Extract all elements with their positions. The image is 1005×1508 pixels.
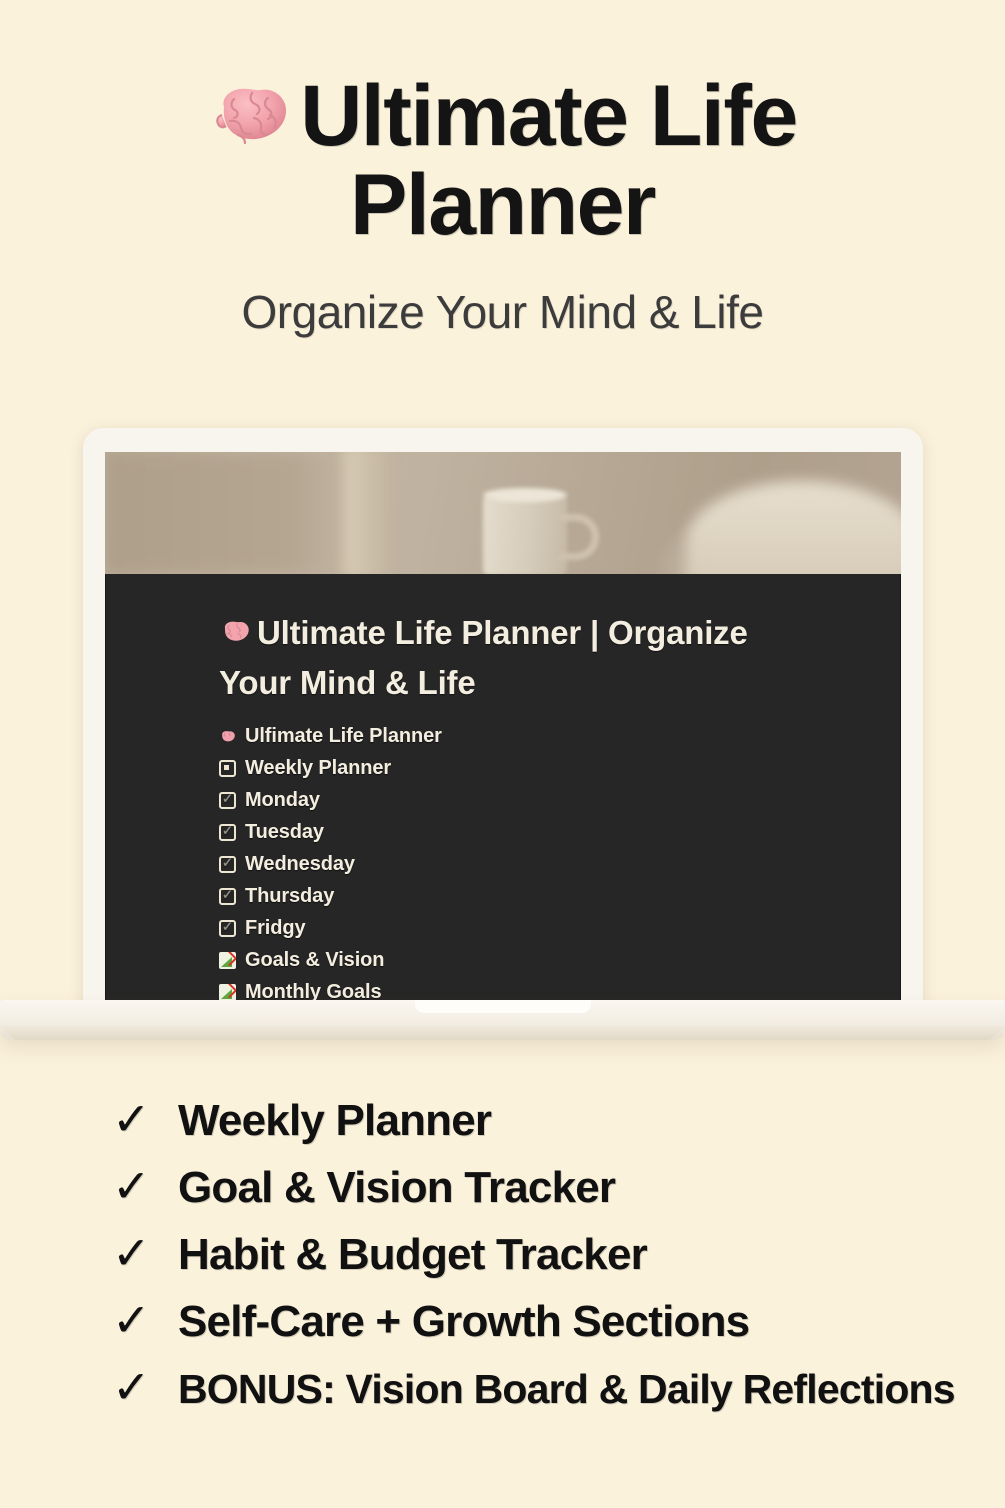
brain-icon: [219, 729, 236, 744]
notion-page-body: Ultimate Life Planner | Organize Your Mi…: [105, 574, 901, 1008]
feature-label: Goal & Vision Tracker: [178, 1166, 615, 1210]
list-item-label: Wednesday: [245, 854, 355, 874]
chart-icon: [219, 984, 236, 1001]
list-item[interactable]: Wednesday: [219, 848, 901, 880]
list-item-label: Fridgy: [245, 918, 306, 938]
list-item[interactable]: Monday: [219, 784, 901, 816]
laptop-screen: Ultimate Life Planner | Organize Your Mi…: [105, 452, 901, 1010]
cover-image: [105, 452, 901, 574]
checkbox-icon[interactable]: [219, 856, 236, 873]
list-item[interactable]: Ulfimate Life Planner: [219, 720, 901, 752]
feature-item: ✓ Habit & Budget Tracker: [112, 1230, 1005, 1297]
feature-label: BONUS: Vision Board & Daily Reflections: [178, 1369, 955, 1410]
page-title: Ultimate Life Planner: [103, 72, 903, 251]
header: Ultimate Life Planner Organize Your Mind…: [0, 0, 1005, 339]
notion-page-list: Ulfimate Life Planner Weekly Planner Mon…: [219, 720, 901, 1008]
checkbox-icon[interactable]: [219, 920, 236, 937]
feature-item: ✓ BONUS: Vision Board & Daily Reflection…: [112, 1364, 1005, 1431]
title-text-2: Planner: [103, 161, 903, 250]
list-item-label: Tuesday: [245, 822, 324, 842]
chart-icon: [219, 952, 236, 969]
laptop-base-lip: [0, 1026, 1005, 1040]
brain-icon: [208, 82, 292, 152]
checkbox-icon[interactable]: [219, 888, 236, 905]
check-icon: ✓: [112, 1096, 156, 1142]
laptop-trackpad-notch: [415, 1000, 591, 1013]
title-line-1-wrap: Ultimate Life: [103, 72, 903, 161]
page-subtitle: Organize Your Mind & Life: [0, 285, 1005, 339]
checkbox-icon[interactable]: [219, 824, 236, 841]
list-item-label: Ulfimate Life Planner: [245, 726, 442, 746]
list-item[interactable]: Thursday: [219, 880, 901, 912]
notion-title-line-1: Ultimate Life Planner |: [257, 614, 599, 651]
cover-shelf-line: [105, 569, 901, 574]
list-item[interactable]: Weekly Planner: [219, 752, 901, 784]
list-item[interactable]: Tuesday: [219, 816, 901, 848]
notion-page-title: Ultimate Life Planner | Organize Your Mi…: [219, 608, 759, 708]
cover-post: [344, 452, 390, 574]
filled-square-icon: [219, 760, 236, 777]
cover-blob: [687, 481, 901, 574]
cover-wall: [105, 452, 376, 574]
feature-label: Habit & Budget Tracker: [178, 1233, 647, 1277]
check-icon: ✓: [112, 1364, 156, 1410]
laptop-mockup: Ultimate Life Planner | Organize Your Mi…: [0, 428, 1005, 1040]
list-item[interactable]: Goals & Vision: [219, 944, 901, 976]
list-item-label: Thursday: [245, 886, 334, 906]
list-item-label: Monday: [245, 790, 320, 810]
check-icon: ✓: [112, 1163, 156, 1209]
feature-label: Self-Care + Growth Sections: [178, 1300, 749, 1344]
check-icon: ✓: [112, 1230, 156, 1276]
list-item-label: Weekly Planner: [245, 758, 391, 778]
title-text-1: Ultimate Life: [300, 68, 797, 164]
feature-item: ✓ Goal & Vision Tracker: [112, 1163, 1005, 1230]
mug-handle-shape: [555, 514, 599, 560]
feature-item: ✓ Self-Care + Growth Sections: [112, 1297, 1005, 1364]
brain-icon: [219, 611, 251, 638]
feature-list: ✓ Weekly Planner ✓ Goal & Vision Tracker…: [0, 1096, 1005, 1431]
check-icon: ✓: [112, 1297, 156, 1343]
mug-rim-shape: [483, 488, 567, 502]
list-item-label: Goals & Vision: [245, 950, 384, 970]
laptop-base: [0, 1000, 1005, 1040]
feature-label: Weekly Planner: [178, 1099, 491, 1143]
list-item[interactable]: Fridgy: [219, 912, 901, 944]
checkbox-icon[interactable]: [219, 792, 236, 809]
laptop-lid: Ultimate Life Planner | Organize Your Mi…: [83, 428, 923, 1010]
feature-item: ✓ Weekly Planner: [112, 1096, 1005, 1163]
